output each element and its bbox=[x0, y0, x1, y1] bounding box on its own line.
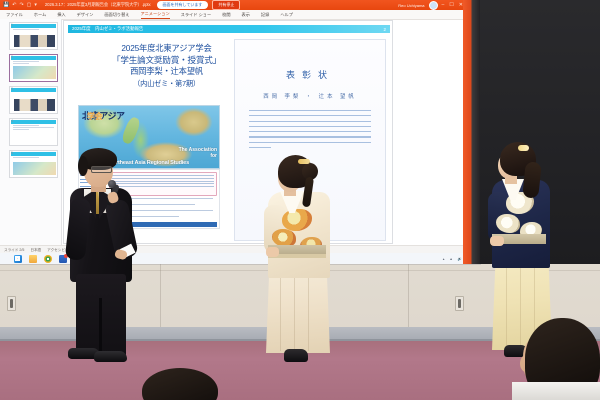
network-icon[interactable]: ▲ bbox=[449, 257, 452, 261]
thumb-photo bbox=[14, 35, 55, 47]
thumbnail-number: 1 bbox=[11, 23, 13, 27]
tab-view[interactable]: 表示 bbox=[242, 12, 250, 18]
redo-icon[interactable]: ↷ bbox=[19, 3, 23, 8]
shoe-right bbox=[94, 351, 127, 362]
thumb-line bbox=[13, 29, 39, 30]
slide-thumbnail[interactable]: 1 bbox=[9, 22, 58, 50]
screen-right-frame bbox=[463, 0, 480, 264]
more-icon[interactable]: ▾ bbox=[34, 3, 37, 8]
document-title: 2026.3.17：2025年度3月期報告会（北東学院大学）.pptx bbox=[45, 2, 151, 8]
tab-file[interactable]: ファイル bbox=[6, 12, 23, 18]
minimize-icon[interactable]: – bbox=[442, 3, 445, 8]
thumb-line bbox=[13, 157, 39, 158]
hair-ornament bbox=[298, 159, 310, 164]
tab-home[interactable]: ホーム bbox=[34, 12, 46, 18]
quick-access-toolbar[interactable]: 💾 ↶ ↷ ▢ ▾ bbox=[0, 3, 37, 8]
map-title-jp-accent: 学会 bbox=[87, 111, 102, 122]
window-title-bar: 💾 ↶ ↷ ▢ ▾ 2026.3.17：2025年度3月期報告会（北東学院大学）… bbox=[0, 0, 466, 10]
restore-icon[interactable]: ☐ bbox=[449, 3, 453, 8]
slide-title-block: 2025年度北東アジア学会 「学生論文奨励賞・授賞式」 西岡李梨・辻本望帆 （内… bbox=[74, 43, 259, 89]
language-indicator[interactable]: 日本語 bbox=[30, 248, 41, 253]
chevron-up-icon[interactable]: ▴ bbox=[443, 257, 445, 261]
tab-design[interactable]: デザイン bbox=[77, 12, 94, 18]
hands-clasped bbox=[490, 236, 504, 246]
account-name: Reo Uchiyama bbox=[398, 3, 424, 8]
thumbnail-number: 4 bbox=[11, 119, 13, 123]
save-icon[interactable]: 💾 bbox=[3, 3, 9, 8]
thumb-line bbox=[13, 63, 29, 64]
thumbnail-number: 5 bbox=[11, 151, 13, 155]
audience-shoulder bbox=[512, 382, 600, 400]
ribbon-tab-bar[interactable]: ファイル ホーム 挿入 デザイン 画面切り替え アニメーション スライド ショー… bbox=[0, 10, 472, 20]
wall-outlet bbox=[455, 296, 464, 311]
slide-thumbnail-pane[interactable]: 1 2 3 4 bbox=[0, 19, 62, 245]
tab-record[interactable]: 記録 bbox=[261, 12, 269, 18]
thumb-map bbox=[13, 66, 56, 79]
tab-slideshow[interactable]: スライド ショー bbox=[181, 12, 211, 18]
slide-title-line-1: 2025年度北東アジア学会 bbox=[74, 43, 259, 55]
thumb-icons bbox=[13, 162, 56, 175]
thumb-title-bar bbox=[11, 88, 56, 92]
slide-title-line-4: （内山ゼミ・第7期） bbox=[74, 78, 259, 90]
slide-header-number: 2 bbox=[384, 27, 386, 32]
thumb-line bbox=[13, 61, 39, 62]
certificate-body-lines bbox=[249, 110, 371, 152]
window-controls[interactable]: – ☐ ✕ bbox=[442, 3, 463, 8]
certificate-recipient: 西岡 李梨 ・ 辻本 望帆 bbox=[235, 92, 385, 100]
thumb-title-bar bbox=[11, 24, 56, 28]
microphone-head bbox=[108, 180, 116, 188]
slide-indicator: スライド 2/5 bbox=[4, 248, 24, 253]
start-icon[interactable] bbox=[14, 255, 22, 263]
volume-icon[interactable]: 🔊 bbox=[458, 257, 462, 261]
hands-clasped bbox=[266, 247, 279, 257]
thumb-line bbox=[13, 129, 29, 130]
thumb-line bbox=[13, 127, 54, 128]
slide-thumbnail-selected[interactable]: 2 bbox=[9, 54, 58, 82]
thumbnail-number: 2 bbox=[11, 55, 13, 59]
tab-insert[interactable]: 挿入 bbox=[57, 12, 65, 18]
file-explorer-icon[interactable] bbox=[29, 255, 37, 263]
avatar[interactable] bbox=[429, 1, 438, 10]
trouser-leg-split bbox=[99, 298, 102, 356]
account-area[interactable]: Reo Uchiyama – ☐ ✕ bbox=[398, 1, 466, 10]
slide-thumbnail[interactable]: 5 bbox=[9, 150, 58, 178]
presenter-person bbox=[58, 148, 150, 363]
stop-share-button[interactable]: 共有停止 bbox=[212, 0, 240, 10]
present-icon[interactable]: ▢ bbox=[27, 3, 32, 8]
tab-animations[interactable]: アニメーション bbox=[141, 11, 170, 19]
boot bbox=[284, 349, 308, 362]
thumb-title-bar bbox=[11, 152, 56, 156]
award-recipient-1 bbox=[258, 155, 342, 363]
slide-title-line-3: 西岡李梨・辻本望帆 bbox=[74, 66, 259, 78]
thumb-title-bar bbox=[11, 120, 56, 124]
wall-outlet bbox=[7, 296, 16, 311]
thumb-photo bbox=[14, 99, 55, 111]
tab-help[interactable]: ヘルプ bbox=[280, 12, 293, 18]
kimono-floral-motif bbox=[496, 214, 520, 233]
slide-thumbnail[interactable]: 3 bbox=[9, 86, 58, 114]
chrome-icon[interactable] bbox=[44, 255, 52, 263]
tab-review[interactable]: 校閲 bbox=[222, 12, 230, 18]
hair-side bbox=[78, 156, 88, 176]
tab-transitions[interactable]: 画面切り替え bbox=[104, 12, 129, 18]
thumb-line bbox=[13, 125, 39, 126]
slide-title-line-2: 「学生論文奨励賞・授賞式」 bbox=[74, 55, 259, 67]
certificate-heading: 表彰状 bbox=[235, 68, 385, 81]
thumb-title-bar bbox=[11, 56, 56, 60]
slide-header-title: 2025年度 内山ゼミ・ラボ活動報告 bbox=[72, 26, 143, 32]
thumbnail-number: 3 bbox=[11, 87, 13, 91]
photograph-scene: 💾 ↶ ↷ ▢ ▾ 2026.3.17：2025年度3月期報告会（北東学院大学）… bbox=[0, 0, 600, 400]
slide-thumbnail[interactable]: 4 bbox=[9, 118, 58, 146]
share-status-badge: 画面を共有しています bbox=[157, 1, 209, 9]
undo-icon[interactable]: ↶ bbox=[12, 3, 16, 8]
eyeglasses bbox=[91, 166, 112, 173]
slide-header-bar: 2025年度 内山ゼミ・ラボ活動報告 2 bbox=[68, 25, 390, 33]
hair-ornament bbox=[518, 145, 529, 151]
